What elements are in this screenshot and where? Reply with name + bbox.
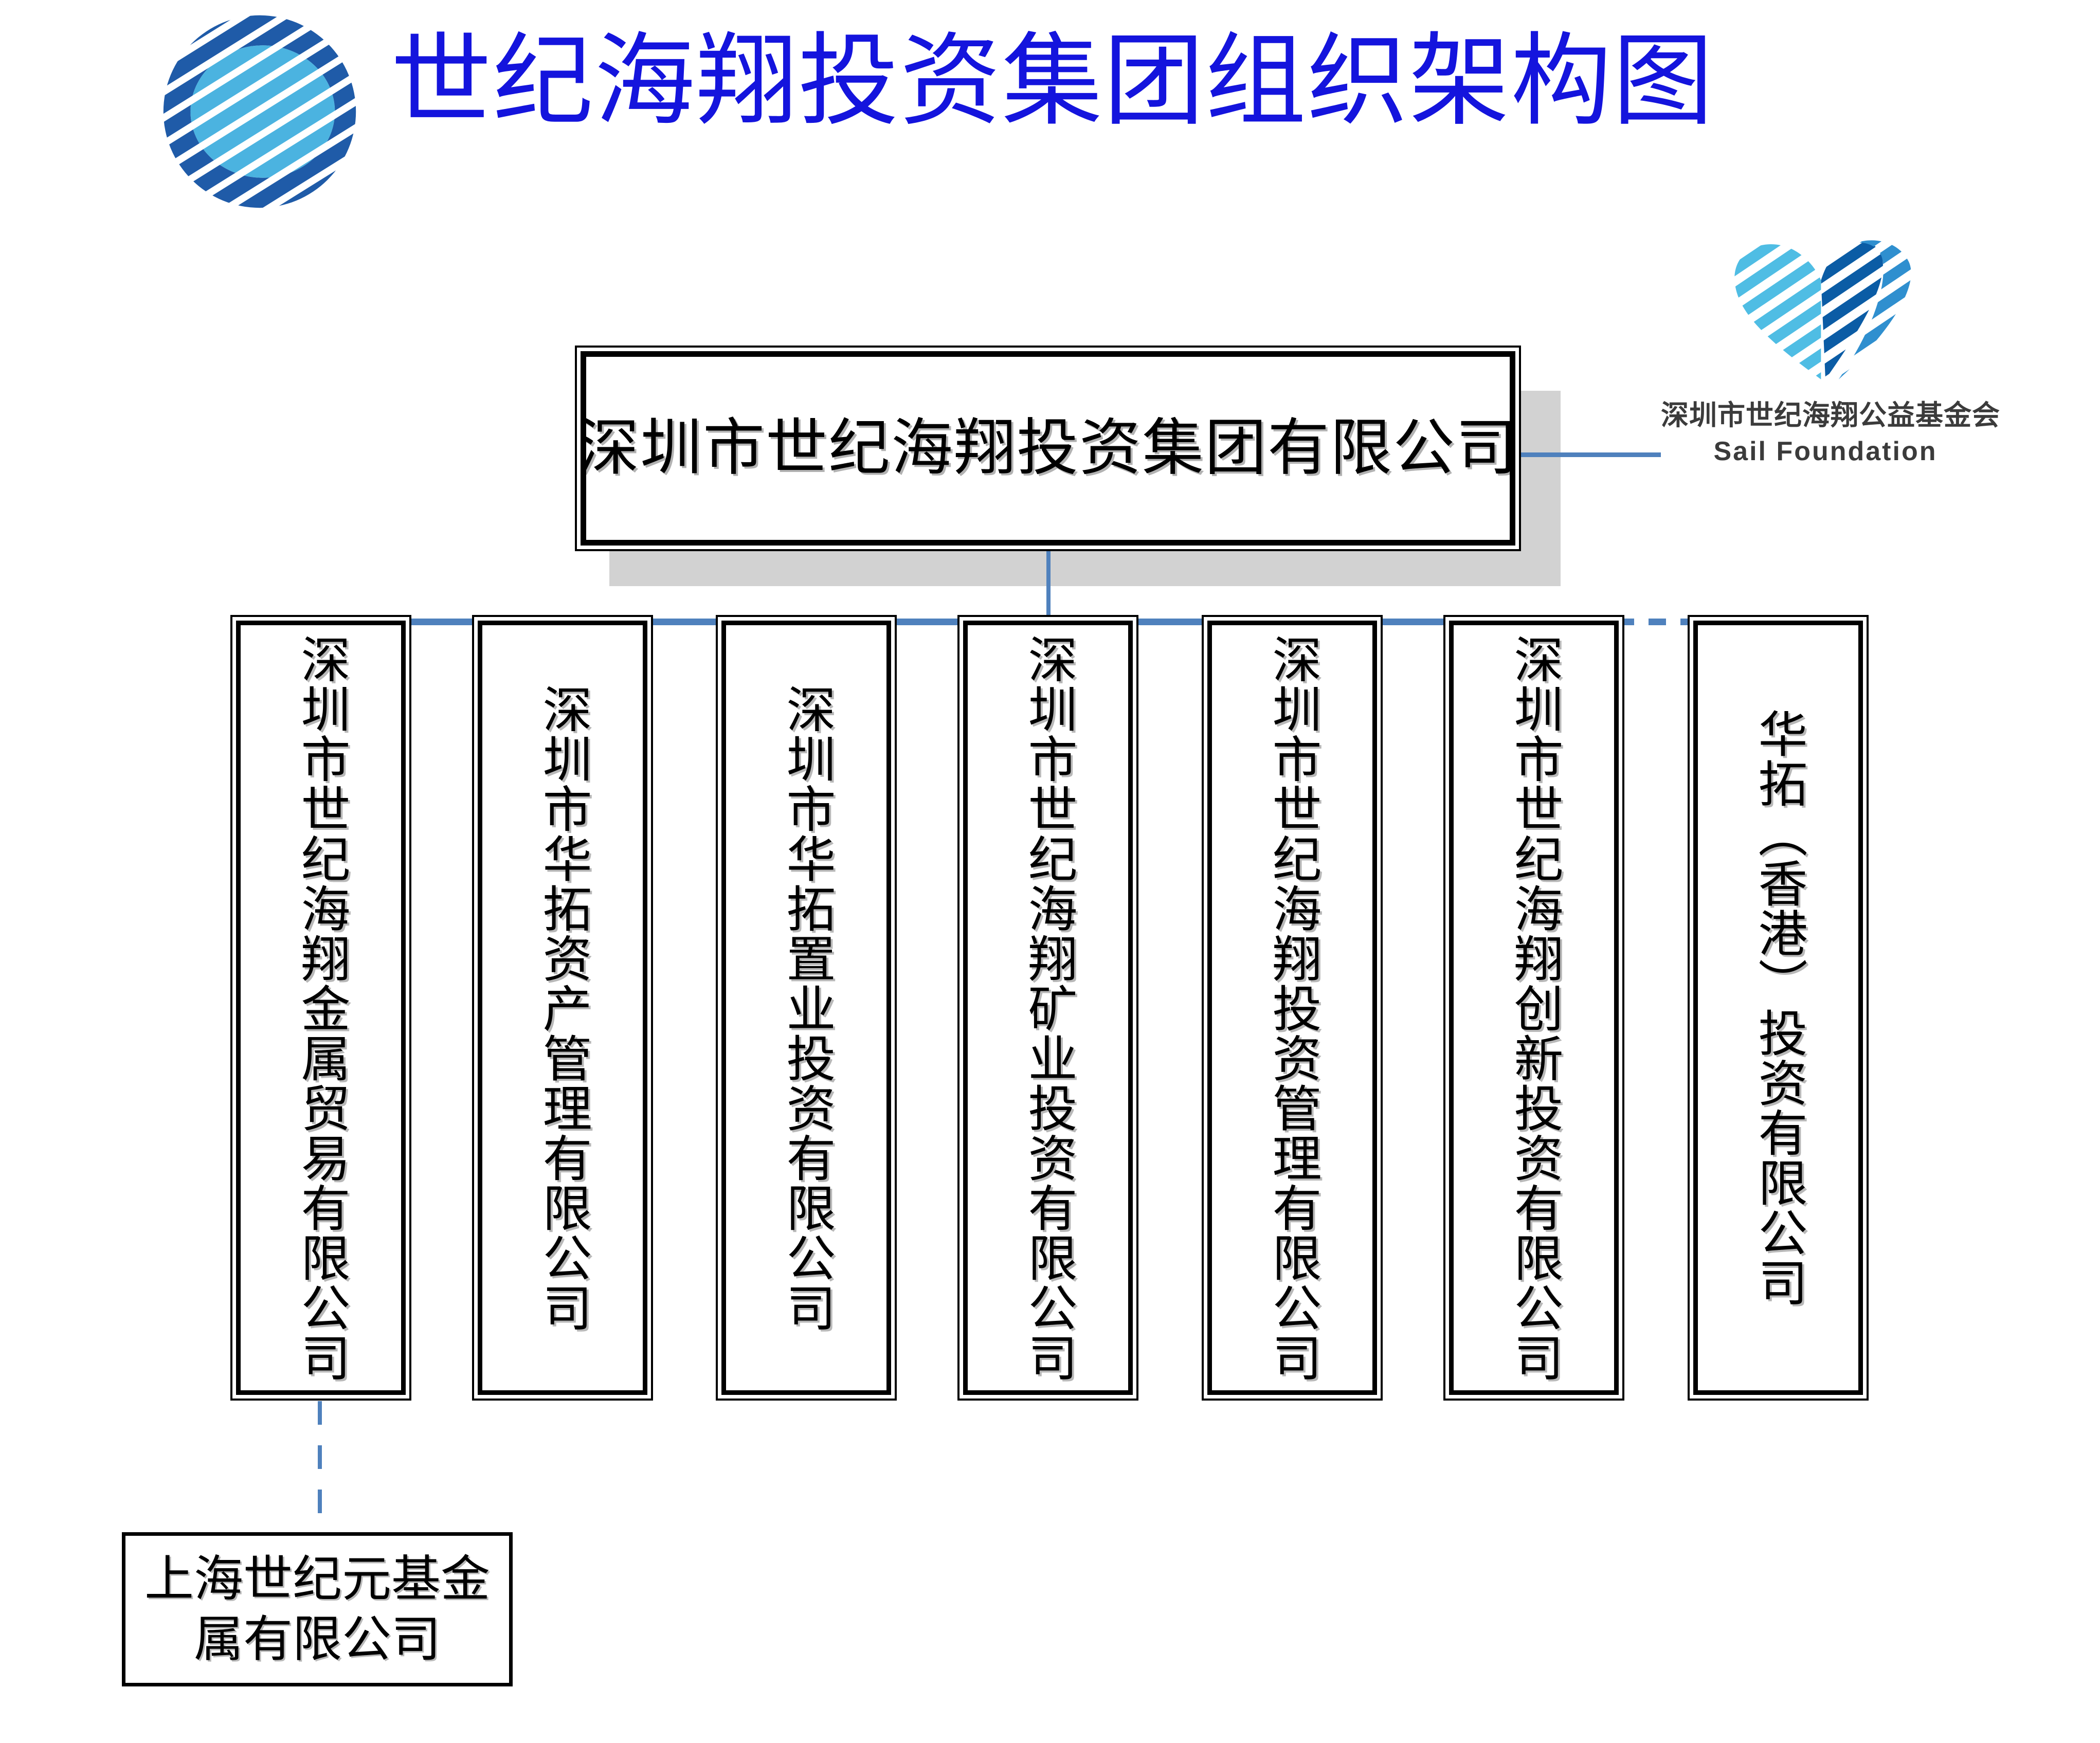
org-chart-canvas: 世纪海翔投资集团组织架构图	[0, 0, 2100, 1743]
unit-box-4-inner: 深圳市世纪海翔矿业投资有限公司	[963, 621, 1133, 1395]
foundation-name-en: Sail Foundation	[1661, 436, 1990, 467]
unit-label-6: 深圳市世纪海翔创新投资有限公司	[1509, 634, 1559, 1382]
unit-box-3[interactable]: 深圳市华拓置业投资有限公司	[716, 615, 897, 1401]
unit-label-3: 深圳市华拓置业投资有限公司	[781, 684, 831, 1332]
unit-box-7[interactable]: 华拓（香港）投资有限公司	[1688, 615, 1869, 1401]
unit-box-4[interactable]: 深圳市世纪海翔矿业投资有限公司	[957, 615, 1138, 1401]
root-company-box[interactable]: 深圳市世纪海翔投资集团有限公司	[575, 346, 1521, 551]
unit-box-6[interactable]: 深圳市世纪海翔创新投资有限公司	[1443, 615, 1624, 1401]
unit-label-1: 深圳市世纪海翔金属贸易有限公司	[296, 634, 346, 1382]
unit-box-1[interactable]: 深圳市世纪海翔金属贸易有限公司	[230, 615, 411, 1401]
foundation-heart-logo-icon	[1707, 234, 1944, 388]
company-globe-logo-icon	[159, 11, 360, 212]
connector-root-drop	[1046, 551, 1051, 622]
sub-unit-label: 上海世纪元基金属有限公司	[133, 1549, 502, 1669]
unit-box-3-inner: 深圳市华拓置业投资有限公司	[721, 621, 891, 1395]
page-title: 世纪海翔投资集团组织架构图	[391, 32, 1714, 133]
unit-box-5-inner: 深圳市世纪海翔投资管理有限公司	[1207, 621, 1377, 1395]
unit-box-7-inner: 华拓（香港）投资有限公司	[1693, 621, 1863, 1395]
foundation-name-cn: 深圳市世纪海翔公益基金会	[1661, 392, 1990, 433]
root-company-label: 深圳市世纪海翔投资集团有限公司	[581, 414, 1515, 482]
unit-label-5: 深圳市世纪海翔投资管理有限公司	[1267, 634, 1317, 1382]
unit-box-5[interactable]: 深圳市世纪海翔投资管理有限公司	[1202, 615, 1383, 1401]
unit-label-7: 华拓（香港）投资有限公司	[1753, 709, 1803, 1307]
root-box-inner: 深圳市世纪海翔投资集团有限公司	[581, 351, 1515, 546]
foundation-mark: 深圳市世纪海翔公益基金会 Sail Foundation	[1661, 234, 1990, 467]
unit-label-4: 深圳市世纪海翔矿业投资有限公司	[1023, 634, 1073, 1382]
unit-box-2[interactable]: 深圳市华拓资产管理有限公司	[472, 615, 653, 1401]
connector-drop-sub-unit	[318, 1401, 322, 1532]
sub-unit-box[interactable]: 上海世纪元基金属有限公司	[122, 1532, 513, 1686]
unit-label-2: 深圳市华拓资产管理有限公司	[537, 684, 588, 1332]
connector-root-to-foundation	[1521, 452, 1661, 457]
unit-box-2-inner: 深圳市华拓资产管理有限公司	[478, 621, 647, 1395]
unit-box-6-inner: 深圳市世纪海翔创新投资有限公司	[1449, 621, 1619, 1395]
unit-box-1-inner: 深圳市世纪海翔金属贸易有限公司	[236, 621, 406, 1395]
